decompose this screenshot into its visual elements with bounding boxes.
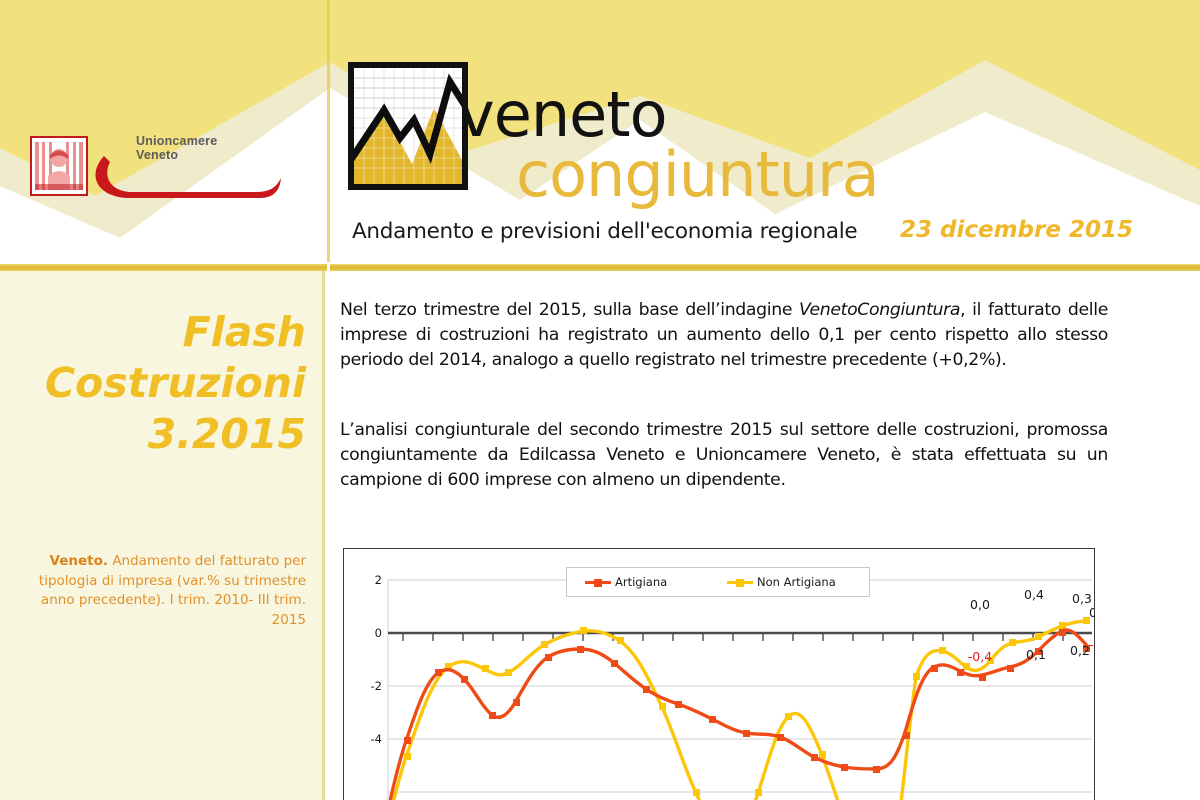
point-label-01: 0,1 — [1026, 647, 1046, 662]
point-label-m02: -0,2 — [1089, 637, 1094, 652]
unioncamere-crest-icon — [30, 136, 88, 196]
point-label-05: 0,5 — [1089, 605, 1094, 620]
logo-word-veneto: veneto — [458, 84, 667, 146]
unioncamere-swoosh-icon — [92, 148, 282, 200]
page-title: FlashCostruzioni3.2015 — [16, 307, 306, 460]
svg-text:-4: -4 — [371, 732, 382, 746]
veneto-congiuntura-logo: veneto congiuntura Andamento e prevision… — [348, 62, 908, 252]
point-label-00: 0,0 — [970, 597, 990, 612]
chart-caption: Veneto. Andamento del fatturato per tipo… — [20, 552, 306, 630]
legend-label-artigiana: Artigiana — [615, 575, 667, 589]
legend-swatch-artigiana — [585, 581, 611, 584]
point-label-02: 0,2 — [1070, 643, 1090, 658]
paragraph-2: L’analisi congiunturale del secondo trim… — [340, 418, 1108, 492]
newsletter-page: Unioncamere Veneto — [0, 0, 1200, 800]
paragraph-1-part-a: Nel terzo trimestre del 2015, sulla base… — [340, 300, 799, 320]
chart-mark-icon — [348, 62, 468, 190]
chart-caption-strong: Veneto. — [50, 553, 109, 569]
point-label-03: 0,3 — [1072, 591, 1092, 606]
main-content: Nel terzo trimestre del 2015, sulla base… — [338, 271, 1200, 800]
legend-item-artigiana: Artigiana — [585, 574, 667, 591]
unioncamere-line-1: Unioncamere — [136, 134, 217, 148]
header-vertical-divider — [327, 0, 330, 262]
legend-swatch-non-artigiana — [727, 581, 753, 584]
legend-item-non-artigiana: Non Artigiana — [727, 574, 836, 591]
header-rule-left — [0, 264, 327, 271]
paragraph-1: Nel terzo trimestre del 2015, sulla base… — [340, 298, 1108, 372]
paragraph-1-emphasis: VenetoCongiuntura — [799, 300, 960, 320]
logo-tagline: Andamento e previsioni dell'economia reg… — [352, 220, 857, 244]
chart-y-tick-labels: 2 0 -2 -4 — [371, 573, 382, 746]
svg-text:-2: -2 — [371, 679, 382, 693]
chart-legend: Artigiana Non Artigiana — [566, 567, 870, 597]
point-label-m04: -0,4 — [968, 649, 992, 664]
header-rule-right — [330, 264, 1200, 271]
svg-text:0: 0 — [375, 626, 382, 640]
point-label-04: 0,4 — [1024, 587, 1044, 602]
unioncamere-veneto-logo: Unioncamere Veneto — [30, 128, 280, 200]
sidebar-divider — [322, 271, 325, 800]
chart-point-labels: 0,0 0,4 0,3 0,5 -0,4 0,1 0,2 -0,2 — [968, 587, 1094, 664]
sidebar: FlashCostruzioni3.2015 Veneto. Andamento… — [0, 271, 322, 800]
logo-word-congiuntura: congiuntura — [516, 144, 879, 206]
series-points-non-artigiana — [404, 617, 1090, 800]
legend-label-non-artigiana: Non Artigiana — [757, 575, 836, 589]
issue-date: 23 dicembre 2015 — [900, 217, 1133, 243]
page-header: Unioncamere Veneto — [0, 0, 1200, 262]
line-chart: 2 0 -2 -4 — [343, 548, 1095, 800]
series-line-non-artigiana — [374, 621, 1088, 800]
svg-text:2: 2 — [375, 573, 382, 587]
